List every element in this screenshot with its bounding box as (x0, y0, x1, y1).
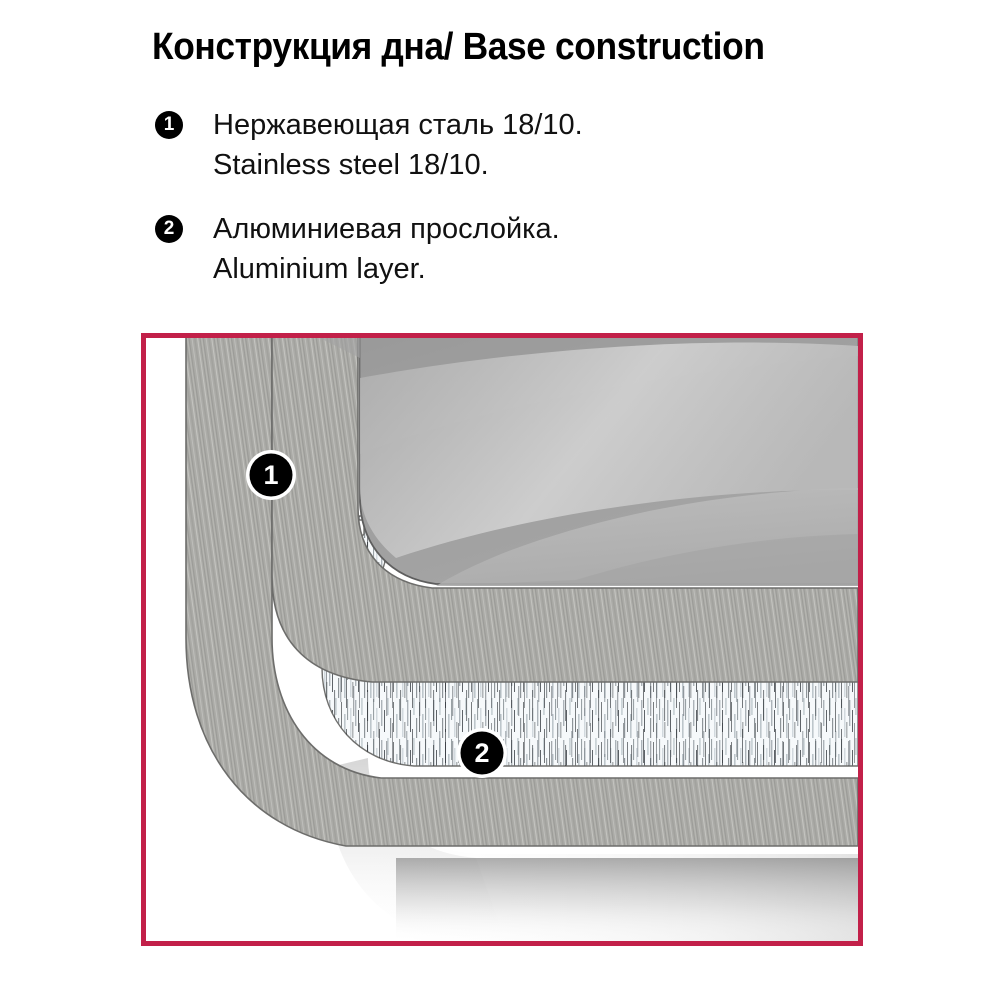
page-title: Конструкция дна/ Base construction (152, 26, 765, 69)
callout-badge-2-label: 2 (474, 738, 489, 768)
legend-line-ru-1: Нержавеющая сталь 18/10. (213, 105, 855, 145)
base-construction-diagram: 1 2 (141, 333, 863, 946)
callout-badge-1-label: 1 (263, 460, 278, 490)
legend-text-1: Нержавеющая сталь 18/10. Stainless steel… (213, 105, 855, 185)
callout-badge-2[interactable]: 2 (457, 728, 507, 778)
illustration-page: Конструкция дна/ Base construction 1 Нер… (0, 0, 1000, 1000)
legend-line-en-2: Aluminium layer. (213, 249, 855, 289)
legend-badge-1-icon: 1 (155, 111, 183, 139)
legend-item-2: 2 Алюминиевая прослойка. Aluminium layer… (155, 209, 855, 289)
legend-badge-2-icon: 2 (155, 215, 183, 243)
legend-text-2: Алюминиевая прослойка. Aluminium layer. (213, 209, 855, 289)
cookware-cross-section-svg: 1 2 (146, 338, 858, 941)
legend-line-ru-2: Алюминиевая прослойка. (213, 209, 855, 249)
legend-item-1: 1 Нержавеющая сталь 18/10. Stainless ste… (155, 105, 855, 185)
legend-line-en-1: Stainless steel 18/10. (213, 145, 855, 185)
legend-list: 1 Нержавеющая сталь 18/10. Stainless ste… (155, 105, 855, 313)
callout-badge-1[interactable]: 1 (246, 450, 296, 500)
pot-interior-surface (296, 338, 858, 586)
